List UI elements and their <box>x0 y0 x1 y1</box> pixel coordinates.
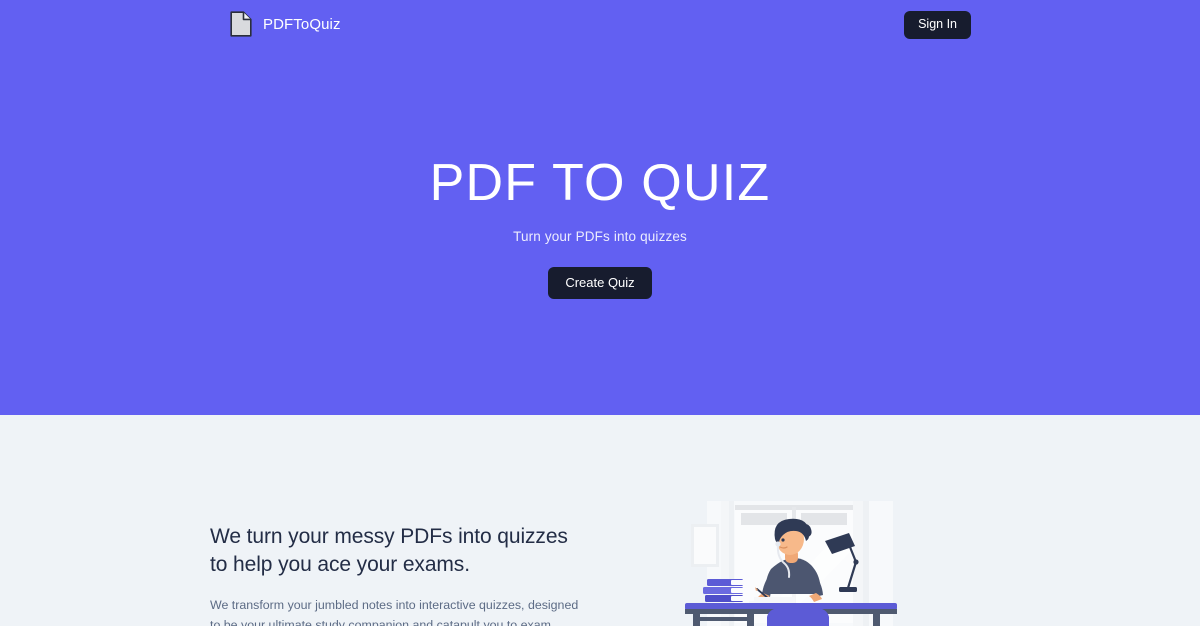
student-studying-at-desk-illustration <box>685 497 915 626</box>
about-paragraph: We transform your jumbled notes into int… <box>210 595 590 626</box>
create-quiz-button[interactable]: Create Quiz <box>548 267 651 299</box>
hero-subtitle: Turn your PDFs into quizzes <box>513 229 687 244</box>
about-text-block: We turn your messy PDFs into quizzes to … <box>210 523 590 626</box>
hero-content: PDF TO QUIZ Turn your PDFs into quizzes … <box>0 0 1200 415</box>
about-heading: We turn your messy PDFs into quizzes to … <box>210 523 590 579</box>
page-title: PDF TO QUIZ <box>430 155 771 212</box>
hero-section: PDFToQuiz Sign In PDF TO QUIZ Turn your … <box>0 0 1200 415</box>
landing-page: PDFToQuiz Sign In PDF TO QUIZ Turn your … <box>0 0 1200 626</box>
about-section: We turn your messy PDFs into quizzes to … <box>0 415 1200 626</box>
